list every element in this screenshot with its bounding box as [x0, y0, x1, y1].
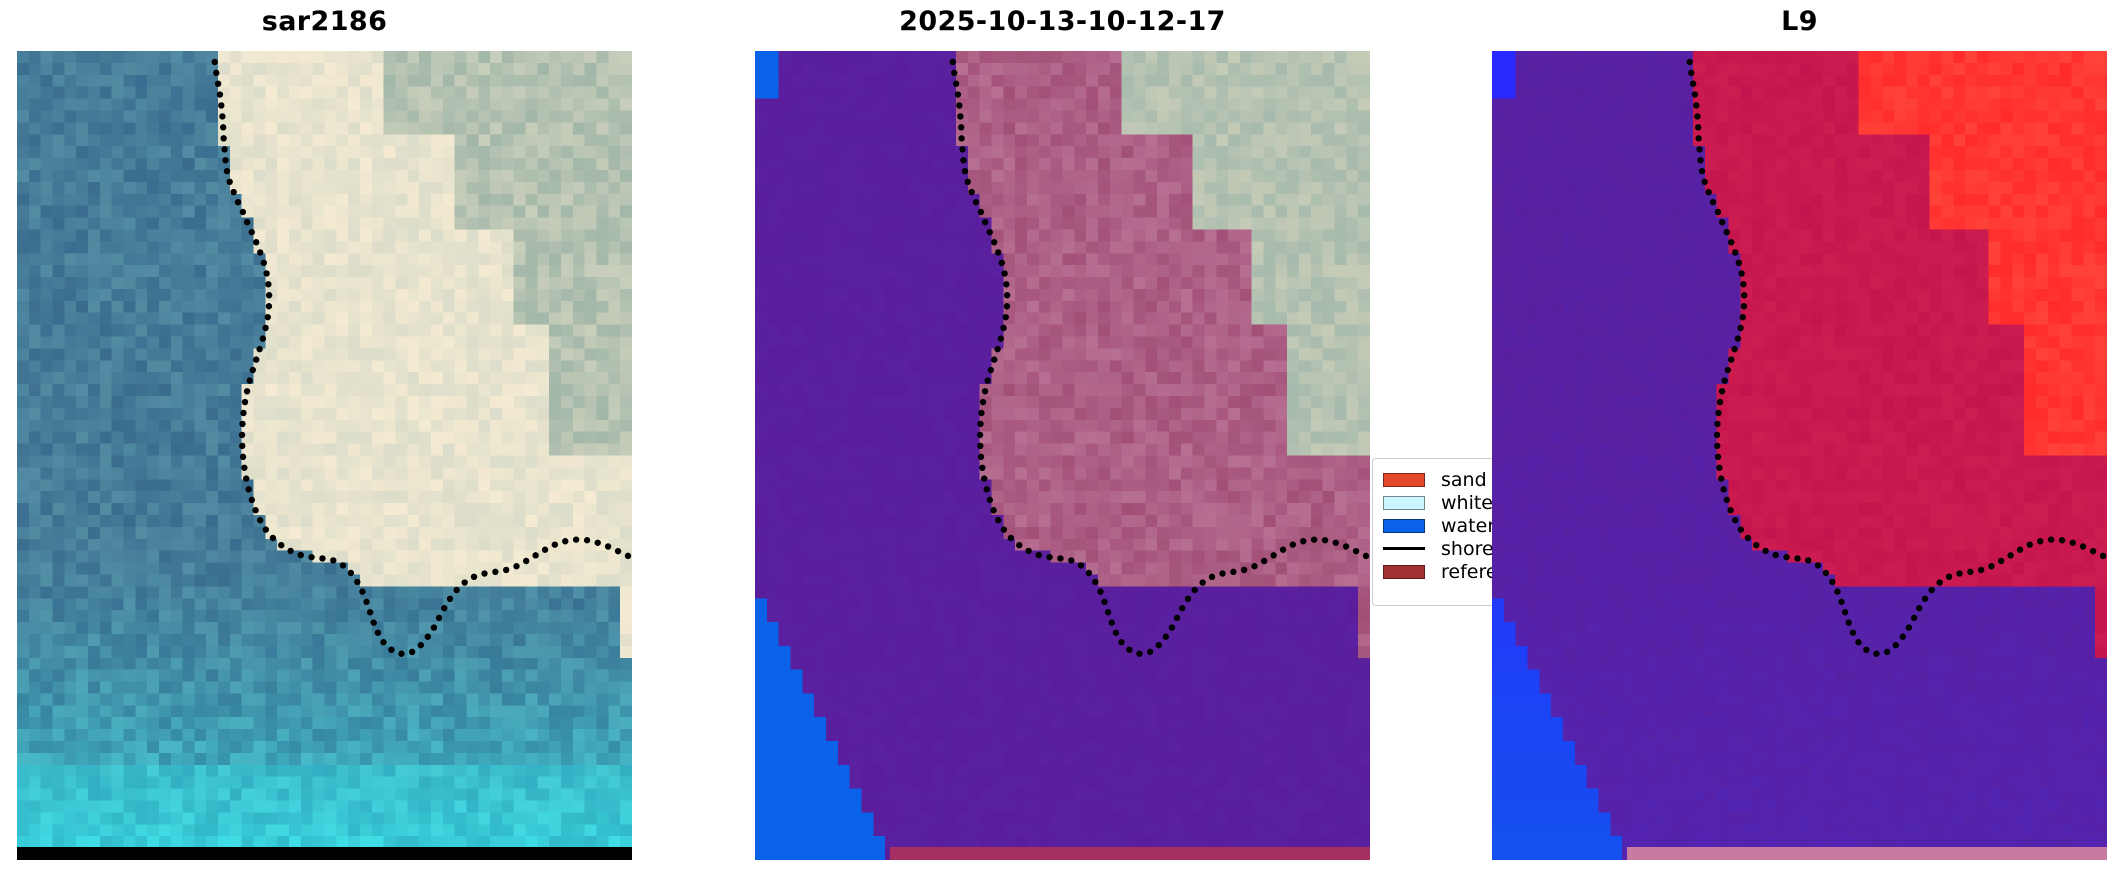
- legend-label-reference: reference: [1441, 561, 1492, 583]
- legend-swatch-shoreline-icon: [1383, 542, 1425, 556]
- legend-item-shoreline: shoreline: [1383, 537, 1492, 560]
- legend-swatch-water-icon: [1383, 519, 1425, 533]
- footer-bar-sar2186: [17, 847, 632, 860]
- footer-bar-timestamp: [890, 847, 1370, 860]
- panel-timestamp: 2025-10-13-10-12-17: [755, 0, 1370, 873]
- legend-label-water: water: [1441, 515, 1492, 537]
- panel-title-sar2186: sar2186: [17, 6, 632, 37]
- panel-image-timestamp: [755, 51, 1370, 860]
- legend-item-sand: sand: [1383, 468, 1492, 491]
- panel-sar2186: sar2186: [17, 0, 632, 873]
- legend-swatch-white-icon: [1383, 496, 1425, 510]
- legend-swatch-sand-icon: [1383, 473, 1425, 487]
- footer-bar-l9: [1627, 847, 2107, 860]
- legend-swatch-reference-icon: [1383, 565, 1425, 579]
- raster-image-timestamp: [755, 51, 1370, 860]
- legend-item-reference: reference: [1383, 560, 1492, 583]
- figure-root: sar2186 2025-10-13-10-12-17 L9 sandwhite…: [0, 0, 2122, 875]
- panel-image-l9: [1492, 51, 2107, 860]
- legend-item-water: water: [1383, 514, 1492, 537]
- legend-item-white: white: [1383, 491, 1492, 514]
- legend[interactable]: sandwhitewatershorelinereference: [1372, 458, 1492, 606]
- panel-title-timestamp: 2025-10-13-10-12-17: [755, 6, 1370, 37]
- panel-title-l9: L9: [1492, 6, 2107, 37]
- raster-image-sar2186: [17, 51, 632, 860]
- legend-label-shoreline: shoreline: [1441, 538, 1492, 560]
- legend-label-sand: sand: [1441, 469, 1487, 491]
- legend-clip-region: sandwhitewatershorelinereference: [1372, 458, 1492, 606]
- panel-l9: L9: [1492, 0, 2107, 873]
- legend-label-white: white: [1441, 492, 1492, 514]
- panel-image-sar2186: [17, 51, 632, 860]
- raster-image-l9: [1492, 51, 2107, 860]
